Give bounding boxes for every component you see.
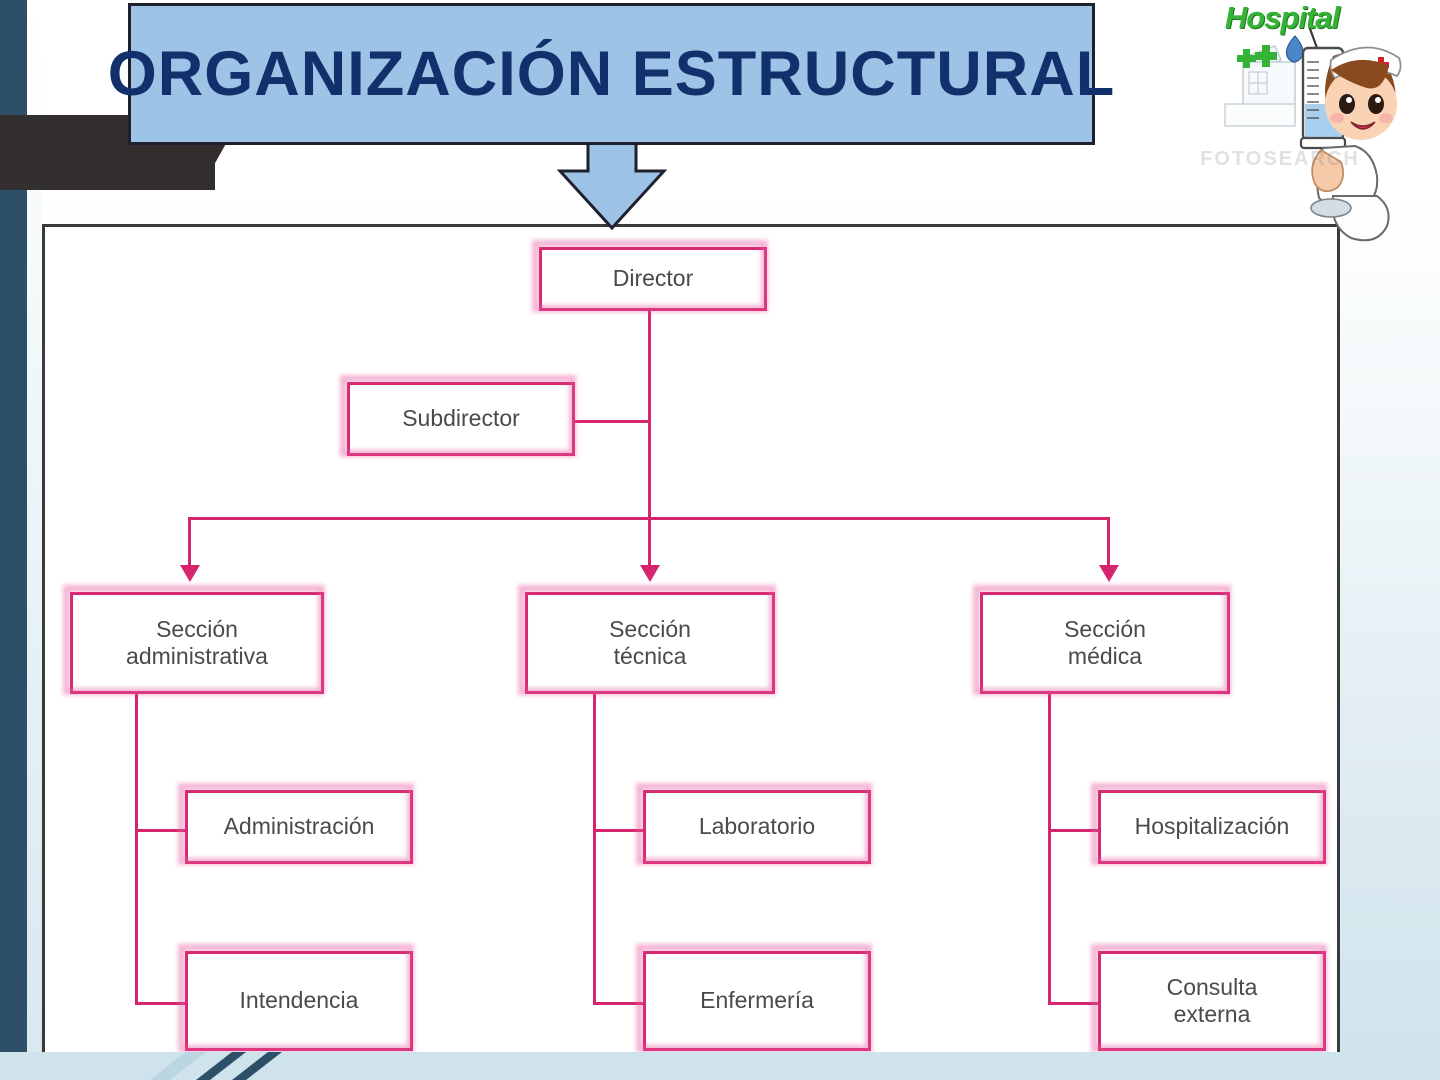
org-node-seccion-tecnica[interactable]: Sección técnica — [525, 592, 775, 694]
org-node-consulta-externa-label-line1: Consulta — [1161, 974, 1264, 1001]
hospital-nurse-clipart: Hospital FOTOSEARCH — [1155, 0, 1405, 250]
org-node-consulta-externa[interactable]: Consulta externa — [1098, 951, 1326, 1051]
org-node-seccion-medica-label-line1: Sección — [1058, 616, 1152, 643]
org-node-hospitalizacion[interactable]: Hospitalización — [1098, 790, 1326, 864]
arrowhead-tecnica — [640, 565, 660, 582]
org-node-seccion-administrativa[interactable]: Sección administrativa — [70, 592, 324, 694]
arrowhead-medica — [1099, 565, 1119, 582]
nurse-illustration-icon — [1155, 0, 1405, 250]
org-node-administracion-label: Administración — [218, 813, 381, 840]
org-node-seccion-tecnica-label-line1: Sección — [603, 616, 697, 643]
org-node-intendencia-label: Intendencia — [234, 987, 365, 1014]
connector-medica-substem — [1048, 694, 1051, 1004]
org-node-intendencia[interactable]: Intendencia — [185, 951, 413, 1051]
down-arrow-icon — [557, 142, 667, 230]
org-node-seccion-tecnica-label-line2: técnica — [608, 643, 693, 670]
connector-drop-medica — [1107, 517, 1110, 567]
slide-title-banner: ORGANIZACIÓN ESTRUCTURAL — [128, 3, 1095, 145]
org-node-subdirector-label: Subdirector — [396, 405, 526, 432]
org-chart-frame: Director Subdirector Sección administrat… — [42, 224, 1340, 1057]
org-node-enfermeria-label: Enfermería — [694, 987, 820, 1014]
page-title: ORGANIZACIÓN ESTRUCTURAL — [108, 43, 1115, 106]
org-node-seccion-medica[interactable]: Sección médica — [980, 592, 1230, 694]
org-node-director[interactable]: Director — [539, 247, 767, 311]
org-node-director-label: Director — [607, 265, 700, 292]
org-node-seccion-administrativa-label-line1: Sección — [150, 616, 244, 643]
org-node-laboratorio-label: Laboratorio — [693, 813, 821, 840]
org-node-subdirector[interactable]: Subdirector — [347, 382, 575, 456]
org-node-consulta-externa-label-line2: externa — [1168, 1001, 1257, 1028]
connector-tecnica-substem — [593, 694, 596, 1004]
org-node-enfermeria[interactable]: Enfermería — [643, 951, 871, 1051]
org-node-administracion[interactable]: Administración — [185, 790, 413, 864]
clipart-watermark: FOTOSEARCH — [1165, 148, 1395, 171]
connector-drop-tecnica — [648, 517, 651, 567]
connector-admin-substem — [135, 694, 138, 1004]
org-node-seccion-administrativa-label-line2: administrativa — [120, 643, 274, 670]
org-chart-canvas: Director Subdirector Sección administrat… — [45, 227, 1337, 1054]
connector-subdirector-tie — [575, 420, 651, 423]
bottom-diagonal-stripes — [0, 1052, 1440, 1080]
connector-drop-administrativa — [188, 517, 191, 567]
org-node-laboratorio[interactable]: Laboratorio — [643, 790, 871, 864]
slide-canvas: ORGANIZACIÓN ESTRUCTURAL — [0, 0, 1440, 1080]
arrowhead-administrativa — [180, 565, 200, 582]
org-node-hospitalizacion-label: Hospitalización — [1129, 813, 1296, 840]
org-node-seccion-medica-label-line2: médica — [1062, 643, 1148, 670]
clipart-wordmark: Hospital — [1177, 0, 1387, 36]
